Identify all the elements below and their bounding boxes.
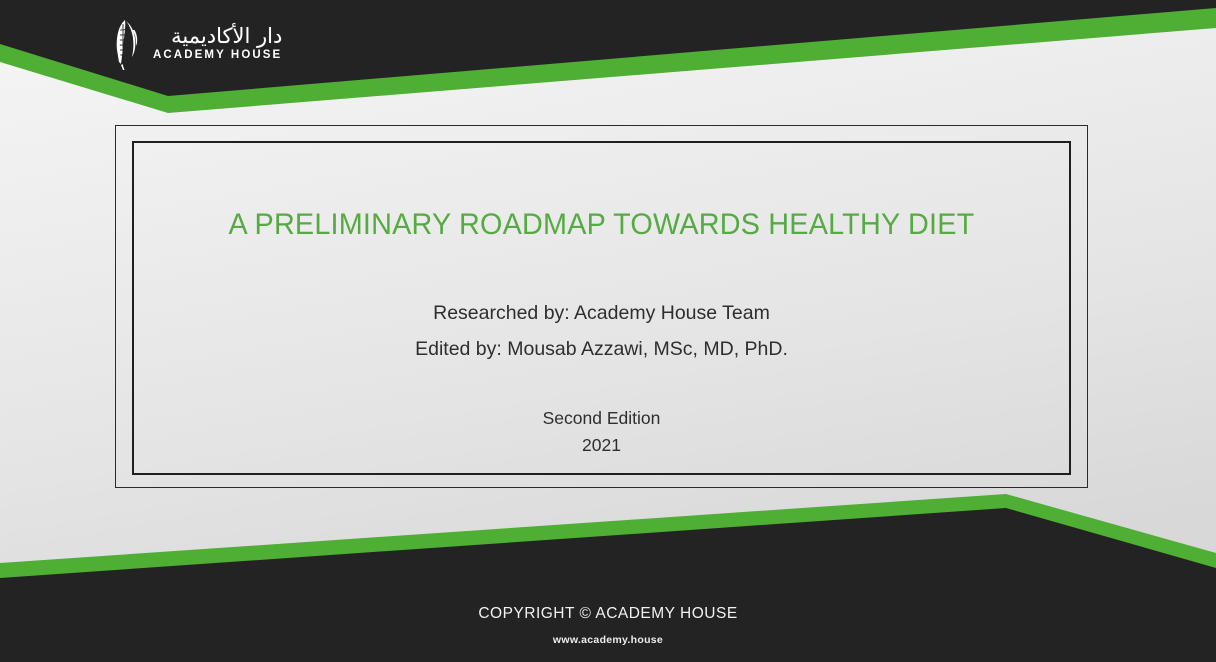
edition-block: Second Edition 2021 bbox=[543, 405, 661, 459]
content-frame-outer: A PRELIMINARY ROADMAP TOWARDS HEALTHY DI… bbox=[115, 125, 1088, 488]
slide-footer: COPYRIGHT © ACADEMY HOUSE www.academy.ho… bbox=[0, 605, 1216, 646]
edition-label: Second Edition bbox=[543, 405, 661, 432]
feather-quill-icon bbox=[112, 18, 146, 70]
credits-block: Researched by: Academy House Team Edited… bbox=[415, 295, 788, 367]
title-slide: دار الأكاديمية ACADEMY HOUSE A PRELIMINA… bbox=[0, 0, 1216, 662]
logo-arabic-text: دار الأكاديمية bbox=[171, 26, 282, 47]
edition-year: 2021 bbox=[543, 432, 661, 459]
researched-by-line: Researched by: Academy House Team bbox=[415, 295, 788, 331]
content-frame-inner: A PRELIMINARY ROADMAP TOWARDS HEALTHY DI… bbox=[132, 141, 1071, 475]
edited-by-line: Edited by: Mousab Azzawi, MSc, MD, PhD. bbox=[415, 331, 788, 367]
logo-latin-text: ACADEMY HOUSE bbox=[153, 50, 282, 62]
logo-wordmark: دار الأكاديمية ACADEMY HOUSE bbox=[153, 26, 282, 62]
website-url[interactable]: www.academy.house bbox=[0, 634, 1216, 646]
copyright-text: COPYRIGHT © ACADEMY HOUSE bbox=[0, 605, 1216, 623]
page-title: A PRELIMINARY ROADMAP TOWARDS HEALTHY DI… bbox=[229, 208, 975, 242]
academy-house-logo: دار الأكاديمية ACADEMY HOUSE bbox=[112, 18, 282, 70]
